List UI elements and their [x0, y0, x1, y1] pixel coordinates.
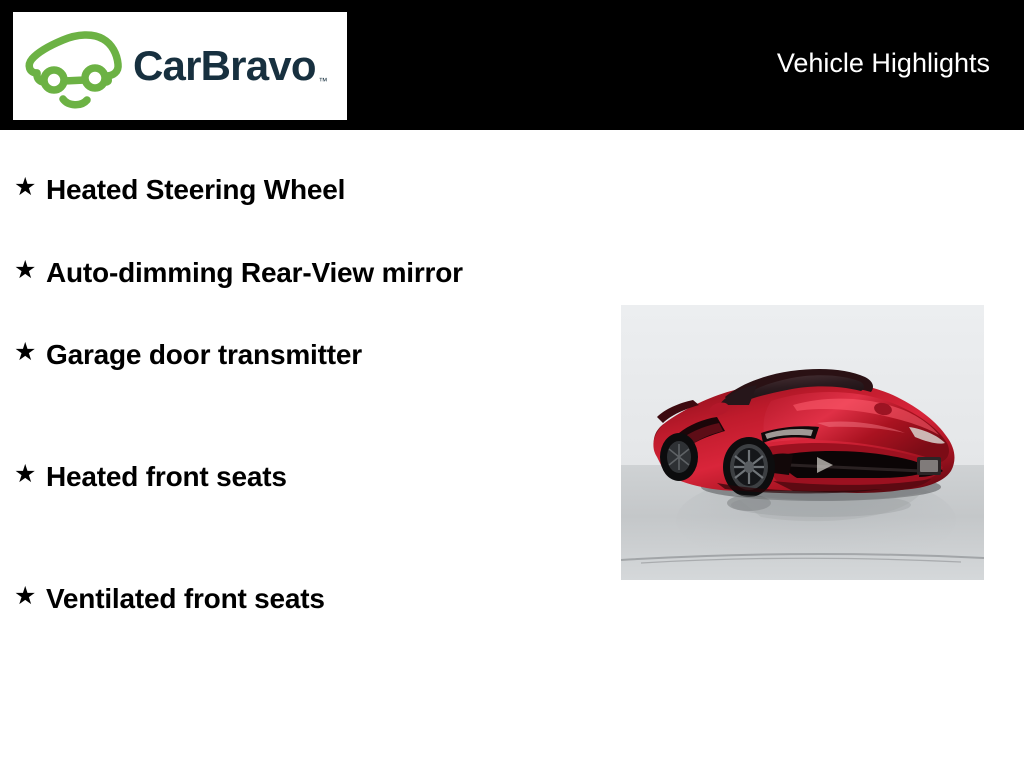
list-item: ★ Heated front seats	[0, 457, 600, 497]
carbravo-wordmark: CarBravo ™	[133, 45, 316, 87]
list-item-label: Garage door transmitter	[46, 335, 362, 375]
list-item: ★ Ventilated front seats	[0, 579, 600, 619]
star-bullet-icon: ★	[14, 253, 46, 287]
list-item: ★ Heated Steering Wheel	[0, 170, 600, 210]
vehicle-highlights-list: ★ Heated Steering Wheel ★ Auto-dimming R…	[0, 130, 600, 619]
trademark-symbol: ™	[318, 77, 326, 86]
list-item-label: Heated Steering Wheel	[46, 170, 345, 210]
list-item: ★ Garage door transmitter	[0, 335, 600, 375]
slide-canvas: CarBravo ™ Vehicle Highlights ★ Heated S…	[0, 0, 1024, 768]
star-bullet-icon: ★	[14, 579, 46, 613]
list-item-label: Auto-dimming Rear-View mirror	[46, 253, 463, 293]
vehicle-photo-image	[621, 305, 984, 580]
carbravo-logo[interactable]: CarBravo ™	[13, 12, 347, 120]
vehicle-photo[interactable]	[621, 305, 984, 580]
carbravo-wordmark-text: CarBravo	[133, 42, 316, 89]
list-item-label: Heated front seats	[46, 457, 287, 497]
list-item-label: Ventilated front seats	[46, 579, 325, 619]
star-bullet-icon: ★	[14, 170, 46, 204]
car-outline-icon	[23, 23, 131, 109]
page-title: Vehicle Highlights	[777, 50, 990, 77]
star-bullet-icon: ★	[14, 457, 46, 491]
header-bar: CarBravo ™ Vehicle Highlights	[0, 0, 1024, 130]
list-item: ★ Auto-dimming Rear-View mirror	[0, 253, 600, 293]
star-bullet-icon: ★	[14, 335, 46, 369]
